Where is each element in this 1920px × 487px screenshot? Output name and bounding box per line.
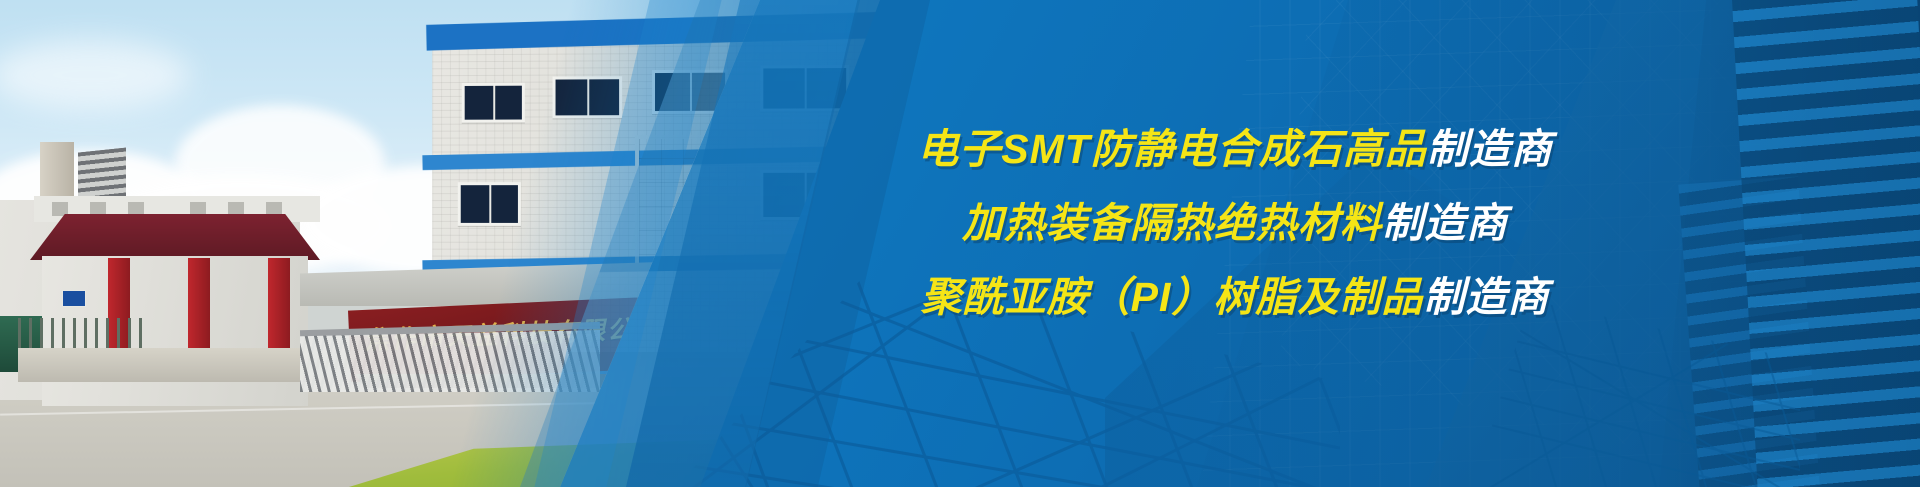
window <box>458 182 521 226</box>
parapet-slot <box>190 202 206 216</box>
headline-line-3-highlight: 聚酰亚胺（PI）树脂及制品 <box>921 274 1424 320</box>
headline-line-1: 电子SMT防静电合成石高品制造商 <box>640 112 1830 186</box>
headline-block: 电子SMT防静电合成石高品制造商 加热装备隔热绝热材料制造商 聚酰亚胺（PI）树… <box>640 112 1830 334</box>
parapet-slot <box>228 202 244 216</box>
headline-line-2-highlight: 加热装备隔热绝热材料 <box>962 200 1382 246</box>
headline-line-1-suffix: 制造商 <box>1427 126 1553 172</box>
headline-line-3-suffix: 制造商 <box>1423 274 1549 320</box>
parapet-slot <box>90 202 106 216</box>
retractable-gate <box>300 330 600 392</box>
window <box>553 76 623 118</box>
headline-line-1-highlight: 电子SMT防静电合成石高品 <box>917 126 1427 172</box>
wall-mounted-sign <box>62 290 86 307</box>
parapet-slot <box>52 202 68 216</box>
headline-line-2-suffix: 制造商 <box>1382 200 1508 246</box>
parapet-slot <box>266 202 282 216</box>
roof-louver-stack <box>78 147 126 202</box>
hero-banner: 焦作市天益科技有限公司 <box>0 0 1920 487</box>
window <box>462 83 525 123</box>
parapet-slot <box>128 202 144 216</box>
headline-line-2: 加热装备隔热绝热材料制造商 <box>640 186 1830 260</box>
headline-line-3: 聚酰亚胺（PI）树脂及制品制造商 <box>640 260 1830 334</box>
gatehouse-roof <box>30 214 320 260</box>
boundary-wall <box>18 348 308 382</box>
window-echo <box>760 65 849 112</box>
